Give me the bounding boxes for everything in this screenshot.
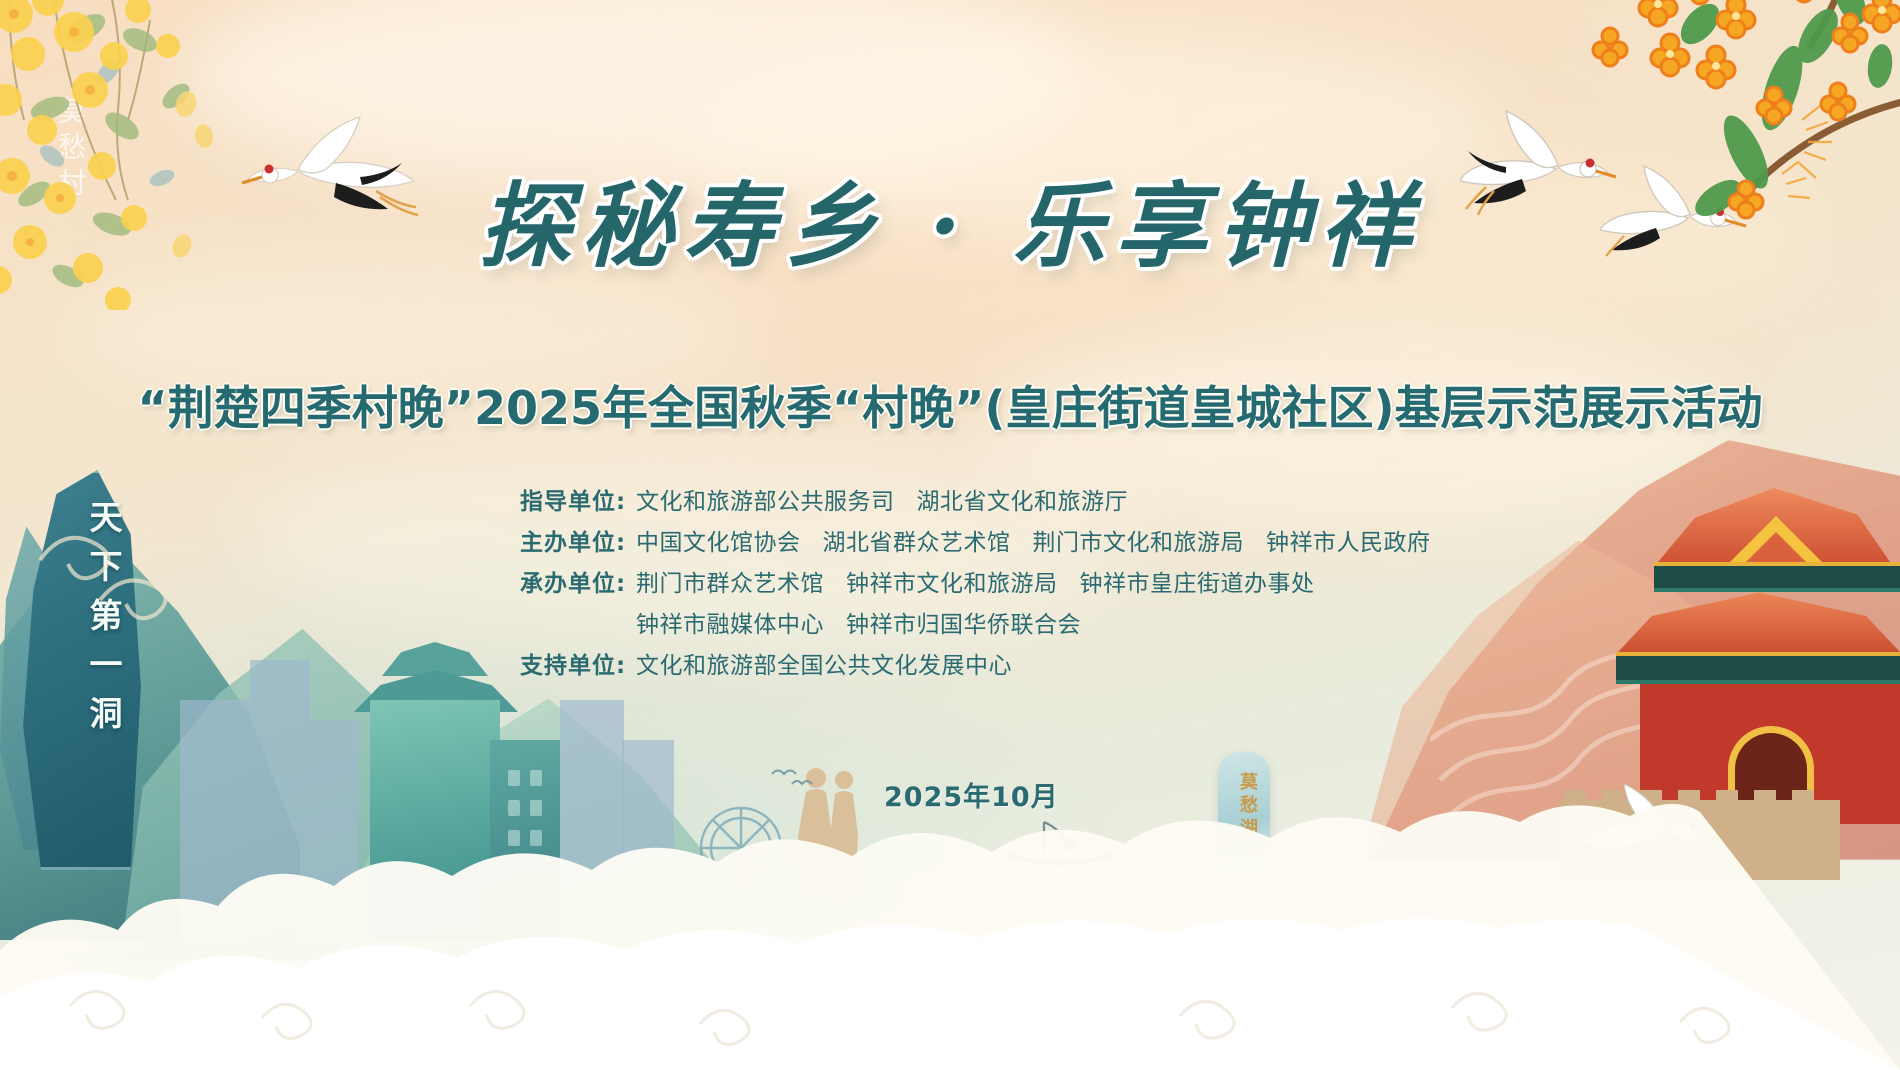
credit-unit: 钟祥市融媒体中心 bbox=[636, 612, 824, 638]
credit-label: 指导单位: bbox=[520, 482, 636, 523]
credit-label: 支持单位: bbox=[520, 646, 636, 687]
credit-unit: 荆门市群众艺术馆 bbox=[636, 571, 824, 597]
credits-block: 指导单位: 文化和旅游部公共服务司湖北省文化和旅游厅 主办单位: 中国文化馆协会… bbox=[520, 482, 1420, 687]
credit-unit: 湖北省群众艺术馆 bbox=[823, 530, 1011, 556]
tower-window bbox=[508, 800, 520, 816]
wall-merlon bbox=[1678, 790, 1700, 812]
small-birds-icon bbox=[768, 760, 818, 790]
credit-unit: 钟祥市皇庄街道办事处 bbox=[1080, 571, 1315, 597]
poster-canvas: 天下第一洞 莫愁村 bbox=[0, 0, 1900, 1070]
tower-annex bbox=[490, 740, 560, 940]
credit-row: 指导单位: 文化和旅游部公共服务司湖北省文化和旅游厅 bbox=[520, 482, 1420, 523]
credit-value: 文化和旅游部公共服务司湖北省文化和旅游厅 bbox=[636, 482, 1150, 523]
tower-body bbox=[370, 700, 500, 940]
credit-value: 文化和旅游部全国公共文化发展中心 bbox=[636, 646, 1034, 687]
city-silhouette-step bbox=[180, 700, 250, 940]
credit-row: 支持单位: 文化和旅游部全国公共文化发展中心 bbox=[520, 646, 1420, 687]
tower-window bbox=[508, 770, 520, 786]
credit-row: 承办单位: 荆门市群众艺术馆钟祥市文化和旅游局钟祥市皇庄街道办事处 bbox=[520, 564, 1420, 605]
stone-stele-label: 莫愁湖 bbox=[1228, 772, 1260, 872]
tower-window bbox=[508, 830, 520, 846]
pagoda-middle-roof bbox=[1618, 590, 1900, 652]
credit-unit: 中国文化馆协会 bbox=[636, 530, 801, 556]
event-subtitle: “荆楚四季村晚”2025年全国秋季“村晚”(皇庄街道皇城社区)基层示范展示活动 bbox=[0, 372, 1900, 438]
city-silhouette-step bbox=[622, 740, 674, 940]
credit-value: 中国文化馆协会湖北省群众艺术馆荆门市文化和旅游局钟祥市人民政府 bbox=[636, 523, 1453, 564]
credit-value: 荆门市群众艺术馆钟祥市文化和旅游局钟祥市皇庄街道办事处 bbox=[636, 564, 1337, 605]
credit-row: 主办单位: 中国文化馆协会湖北省群众艺术馆荆门市文化和旅游局钟祥市人民政府 bbox=[520, 523, 1420, 564]
credit-label: 主办单位: bbox=[520, 523, 636, 564]
credit-unit: 钟祥市文化和旅游局 bbox=[846, 571, 1058, 597]
tower-window bbox=[530, 800, 542, 816]
wall-merlon bbox=[1564, 790, 1586, 812]
event-date: 2025年10月 bbox=[884, 775, 1059, 814]
credit-row-continuation: 承办单位: 钟祥市融媒体中心钟祥市归国华侨联合会 bbox=[520, 605, 1420, 646]
cloud-band bbox=[180, 0, 1080, 190]
fishing-boat-icon bbox=[1000, 810, 1120, 870]
tower-window bbox=[530, 830, 542, 846]
credit-unit: 钟祥市归国华侨联合会 bbox=[846, 612, 1081, 638]
credit-value: 钟祥市融媒体中心钟祥市归国华侨联合会 bbox=[636, 605, 1103, 646]
wall-merlon bbox=[1716, 790, 1738, 812]
wall-merlon bbox=[1640, 790, 1662, 812]
city-wall bbox=[1560, 800, 1840, 880]
city-silhouette-step bbox=[250, 660, 310, 940]
wall-merlon bbox=[1754, 790, 1776, 812]
credit-label: 承办单位: bbox=[520, 564, 636, 605]
credit-unit: 文化和旅游部公共服务司 bbox=[636, 489, 895, 515]
tower-window bbox=[530, 770, 542, 786]
page-title: 探秘寿乡 · 乐享钟祥 bbox=[0, 178, 1900, 275]
credit-unit: 湖北省文化和旅游厅 bbox=[917, 489, 1129, 515]
wall-merlon bbox=[1792, 790, 1814, 812]
red-pagoda bbox=[1600, 470, 1900, 890]
credit-unit: 钟祥市人民政府 bbox=[1266, 530, 1431, 556]
credit-unit: 荆门市文化和旅游局 bbox=[1033, 530, 1245, 556]
pagoda-upper-frieze bbox=[1654, 562, 1900, 592]
pagoda-lower-frieze bbox=[1616, 652, 1900, 684]
cloud-curl-left-icon bbox=[30, 470, 290, 630]
ferris-wheel-icon bbox=[686, 800, 796, 910]
credit-unit: 文化和旅游部全国公共文化发展中心 bbox=[636, 653, 1012, 679]
wall-merlon bbox=[1602, 790, 1624, 812]
